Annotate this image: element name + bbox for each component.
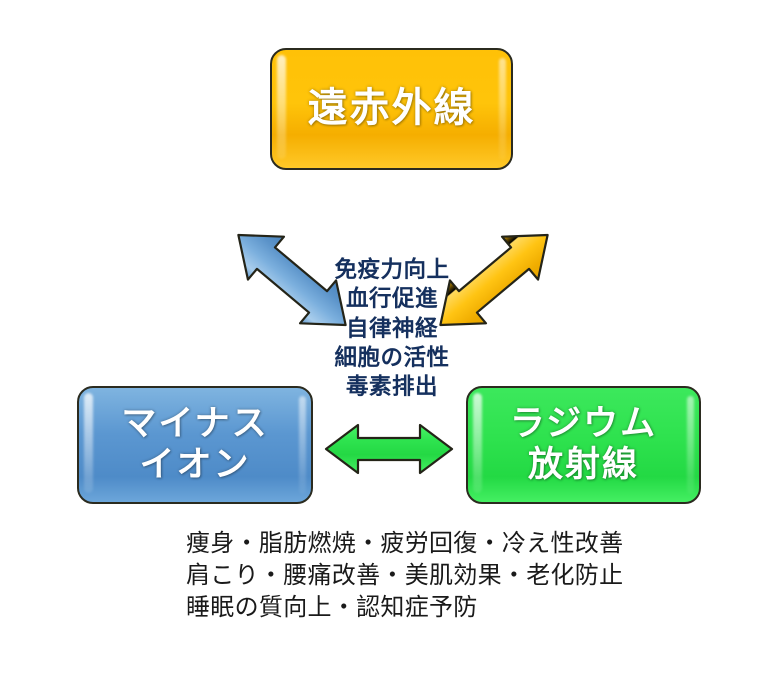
node-radium[interactable]: ラジウム 放射線 (466, 386, 701, 504)
arrow-green-shape (326, 425, 452, 473)
bottom-benefits-text: 痩身・脂肪燃焼・疲労回復・冷え性改善 肩こり・腰痛改善・美肌効果・老化防止 睡眠… (186, 528, 686, 624)
arrow-green-minusion-radium[interactable] (322, 420, 456, 478)
node-minus-ion[interactable]: マイナス イオン (77, 386, 313, 504)
node-minus-ion-label: マイナス イオン (121, 404, 268, 487)
node-far-infrared-label: 遠赤外線 (308, 85, 476, 132)
center-benefits-text: 免疫力向上 血行促進 自律神経 細胞の活性 毒素排出 (316, 256, 468, 402)
node-radium-label: ラジウム 放射線 (510, 404, 657, 487)
diagram-canvas: 遠赤外線 マイナス イオン ラジウム 放射線 (0, 0, 762, 685)
node-far-infrared[interactable]: 遠赤外線 (270, 48, 513, 170)
